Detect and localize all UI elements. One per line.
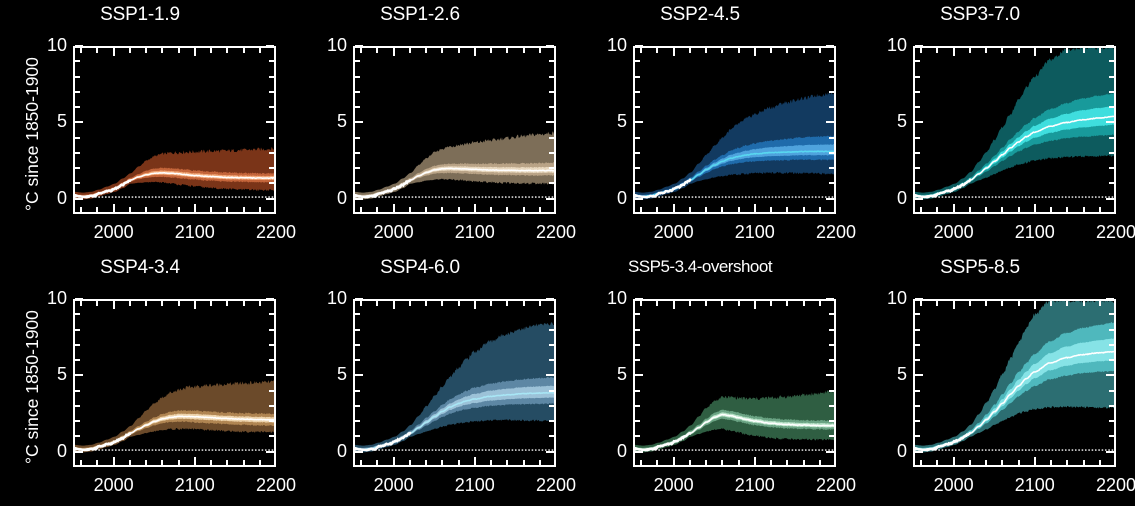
x-tick-mark-top (936, 48, 938, 53)
x-tick-mark (721, 460, 723, 465)
y-tick-label: 10 (41, 288, 67, 309)
y-tick-mark-right (1106, 198, 1114, 200)
projection-bands (635, 301, 834, 465)
x-tick-mark (360, 460, 362, 465)
x-tick-mark-top (178, 301, 180, 306)
panel-title: SSP2-4.5 (560, 4, 840, 26)
y-tick-mark-right (269, 344, 274, 346)
y-tick-mark (635, 121, 643, 123)
y-tick-mark (635, 198, 643, 200)
x-tick-mark-top (920, 48, 922, 53)
y-tick-mark (915, 45, 923, 47)
y-tick-mark-right (549, 359, 554, 361)
y-tick-mark-right (269, 390, 274, 392)
y-tick-label: 5 (601, 111, 627, 132)
x-tick-mark (1034, 204, 1036, 212)
x-tick-mark (936, 207, 938, 212)
y-tick-mark-right (549, 313, 554, 315)
x-tick-mark (1066, 207, 1068, 212)
y-tick-mark (355, 137, 360, 139)
x-tick-label: 2100 (160, 475, 230, 496)
y-tick-mark-right (1106, 298, 1114, 300)
x-tick-mark-top (985, 48, 987, 53)
x-tick-mark-top (113, 48, 115, 56)
x-tick-mark-top (1018, 48, 1020, 53)
x-tick-mark (210, 460, 212, 465)
y-tick-mark-right (1109, 167, 1114, 169)
y-tick-mark (355, 313, 360, 315)
x-tick-mark-top (490, 301, 492, 306)
x-tick-mark (1018, 207, 1020, 212)
y-tick-mark (75, 359, 80, 361)
y-tick-mark-right (549, 182, 554, 184)
x-tick-mark-top (1066, 301, 1068, 306)
y-tick-mark (355, 420, 360, 422)
y-tick-mark (915, 60, 920, 62)
y-tick-mark-right (826, 121, 834, 123)
y-tick-mark-right (269, 60, 274, 62)
x-tick-label: 2000 (79, 222, 149, 243)
x-tick-label: 2200 (1081, 475, 1135, 496)
panel-row-bottom: SSP4-3.4°C since 1850-190005102000210022… (0, 253, 1135, 506)
y-tick-mark-right (829, 359, 834, 361)
y-tick-mark (355, 152, 360, 154)
x-tick-mark (969, 460, 971, 465)
y-tick-mark-right (549, 435, 554, 437)
y-tick-mark (75, 152, 80, 154)
y-tick-mark (635, 167, 640, 169)
y-tick-mark-right (829, 60, 834, 62)
y-tick-mark (915, 121, 923, 123)
x-tick-mark (376, 207, 378, 212)
y-tick-mark (355, 182, 360, 184)
x-tick-mark-top (194, 48, 196, 56)
y-tick-label: 10 (601, 35, 627, 56)
y-tick-mark (915, 374, 923, 376)
y-tick-mark-right (826, 451, 834, 453)
x-tick-mark (539, 207, 541, 212)
x-tick-label: 2000 (639, 222, 709, 243)
x-tick-mark (506, 207, 508, 212)
x-tick-mark (819, 460, 821, 465)
y-tick-mark (75, 451, 83, 453)
y-tick-mark-right (269, 329, 274, 331)
x-tick-mark (656, 207, 658, 212)
x-tick-mark (474, 457, 476, 465)
panel-ssp1-2.6: SSP1-2.60510200021002200 (280, 0, 560, 253)
y-tick-mark (75, 60, 80, 62)
y-tick-mark-right (266, 374, 274, 376)
panel-title: SSP1-2.6 (280, 4, 560, 26)
x-tick-mark-top (441, 48, 443, 53)
y-tick-mark-right (546, 451, 554, 453)
x-tick-mark-top (506, 48, 508, 53)
x-tick-mark (259, 207, 261, 212)
y-tick-mark-right (546, 374, 554, 376)
x-tick-mark (819, 207, 821, 212)
y-tick-mark-right (266, 198, 274, 200)
x-tick-mark (409, 460, 411, 465)
y-tick-mark-right (269, 152, 274, 154)
y-tick-mark-right (829, 137, 834, 139)
y-tick-mark-right (549, 152, 554, 154)
x-tick-label: 2100 (1000, 222, 1070, 243)
y-tick-mark-right (549, 167, 554, 169)
x-tick-label: 2000 (639, 475, 709, 496)
x-tick-mark-top (770, 48, 772, 53)
x-tick-mark (96, 460, 98, 465)
projection-bands (915, 48, 1114, 212)
x-tick-mark (409, 207, 411, 212)
x-tick-mark-top (786, 301, 788, 306)
y-tick-mark-right (549, 344, 554, 346)
y-tick-mark-right (1106, 121, 1114, 123)
x-tick-mark-top (523, 48, 525, 53)
x-tick-mark (161, 207, 163, 212)
x-tick-mark-top (194, 301, 196, 309)
y-tick-mark (75, 91, 80, 93)
x-tick-mark (1050, 460, 1052, 465)
x-tick-mark (640, 460, 642, 465)
x-tick-mark (393, 204, 395, 212)
y-tick-mark (75, 329, 80, 331)
x-tick-mark-top (738, 48, 740, 53)
panel-ssp4-3.4: SSP4-3.4°C since 1850-190005102000210022… (0, 253, 280, 506)
plot-area (73, 299, 276, 467)
x-tick-mark-top (80, 48, 82, 53)
y-tick-mark-right (829, 76, 834, 78)
x-tick-mark-top (210, 301, 212, 306)
x-tick-mark (770, 460, 772, 465)
x-tick-mark-top (360, 48, 362, 53)
x-tick-mark (80, 207, 82, 212)
x-tick-mark (920, 460, 922, 465)
x-tick-mark (656, 460, 658, 465)
y-tick-mark (915, 91, 920, 93)
projection-bands (355, 301, 554, 465)
y-tick-mark-right (549, 60, 554, 62)
x-tick-mark (1018, 460, 1020, 465)
y-tick-mark (75, 137, 80, 139)
x-tick-mark-top (96, 301, 98, 306)
x-tick-mark (129, 207, 131, 212)
y-tick-mark (635, 313, 640, 315)
y-tick-mark (915, 182, 920, 184)
y-tick-mark-right (1109, 329, 1114, 331)
y-tick-mark (75, 167, 80, 169)
y-tick-mark (355, 167, 360, 169)
y-tick-mark-right (269, 405, 274, 407)
y-tick-mark-right (826, 298, 834, 300)
y-tick-mark-right (269, 137, 274, 139)
x-tick-mark (953, 457, 955, 465)
y-tick-label: 10 (321, 288, 347, 309)
x-tick-mark-top (738, 301, 740, 306)
x-tick-mark (738, 460, 740, 465)
y-tick-mark (355, 298, 363, 300)
x-tick-mark (803, 207, 805, 212)
plot-area (913, 299, 1116, 467)
y-tick-mark-right (549, 137, 554, 139)
x-tick-mark (113, 204, 115, 212)
y-tick-mark (635, 451, 643, 453)
x-tick-mark (243, 460, 245, 465)
y-tick-mark (75, 313, 80, 315)
x-tick-mark (1001, 460, 1003, 465)
x-tick-mark-top (640, 301, 642, 306)
y-tick-mark (915, 298, 923, 300)
x-tick-mark (936, 460, 938, 465)
y-tick-mark (355, 374, 363, 376)
y-tick-mark-right (1106, 374, 1114, 376)
x-tick-mark-top (393, 301, 395, 309)
x-tick-mark-top (226, 301, 228, 306)
y-tick-mark-right (829, 182, 834, 184)
x-tick-mark (243, 207, 245, 212)
x-tick-label: 2100 (720, 475, 790, 496)
x-tick-label: 2000 (79, 475, 149, 496)
x-tick-mark-top (178, 48, 180, 53)
x-tick-mark (441, 460, 443, 465)
plot-area (913, 46, 1116, 214)
y-tick-mark (915, 167, 920, 169)
x-tick-mark (506, 460, 508, 465)
x-tick-mark (259, 460, 261, 465)
x-tick-mark (1066, 460, 1068, 465)
y-tick-mark (915, 451, 923, 453)
x-tick-mark-top (113, 301, 115, 309)
y-tick-label: 5 (881, 364, 907, 385)
x-tick-label: 2000 (919, 222, 989, 243)
plot-area (633, 299, 836, 467)
x-tick-mark (113, 457, 115, 465)
x-tick-mark (689, 460, 691, 465)
x-tick-mark-top (376, 48, 378, 53)
x-tick-mark (178, 460, 180, 465)
y-tick-mark-right (1109, 152, 1114, 154)
y-tick-mark-right (546, 45, 554, 47)
y-tick-mark (75, 298, 83, 300)
x-tick-mark-top (161, 48, 163, 53)
projection-bands (355, 48, 554, 212)
x-tick-mark-top (1034, 48, 1036, 56)
x-tick-mark (705, 460, 707, 465)
y-tick-mark (75, 121, 83, 123)
x-tick-mark (523, 460, 525, 465)
x-tick-mark (226, 207, 228, 212)
y-tick-label: 5 (41, 364, 67, 385)
y-tick-mark-right (826, 374, 834, 376)
y-axis-label: °C since 1850-1900 (22, 310, 43, 464)
y-tick-mark-right (826, 198, 834, 200)
x-tick-mark-top (985, 301, 987, 306)
x-tick-mark-top (539, 301, 541, 306)
y-tick-mark-right (546, 298, 554, 300)
y-tick-mark-right (549, 106, 554, 108)
x-tick-mark (490, 460, 492, 465)
x-tick-mark (210, 207, 212, 212)
y-axis-label: °C since 1850-1900 (22, 57, 43, 211)
x-tick-mark-top (360, 301, 362, 306)
x-tick-mark (1050, 207, 1052, 212)
x-tick-label: 2100 (1000, 475, 1070, 496)
x-tick-mark-top (1099, 48, 1101, 53)
x-tick-mark-top (656, 48, 658, 53)
y-tick-mark (355, 405, 360, 407)
y-tick-mark (355, 76, 360, 78)
x-tick-mark (953, 204, 955, 212)
x-tick-mark-top (803, 48, 805, 53)
y-tick-mark (915, 435, 920, 437)
y-tick-mark (355, 106, 360, 108)
x-tick-label: 2000 (359, 475, 429, 496)
y-tick-mark (355, 329, 360, 331)
x-tick-label: 2100 (160, 222, 230, 243)
panel-title: SSP4-3.4 (0, 257, 280, 279)
y-tick-mark-right (1109, 390, 1114, 392)
y-tick-mark (75, 344, 80, 346)
y-tick-mark (75, 76, 80, 78)
x-tick-mark-top (1034, 301, 1036, 309)
x-tick-mark-top (409, 48, 411, 53)
x-tick-mark-top (754, 48, 756, 56)
x-tick-mark-top (458, 48, 460, 53)
y-tick-mark-right (266, 45, 274, 47)
plot-area (353, 299, 556, 467)
x-tick-mark-top (705, 48, 707, 53)
x-tick-mark (1099, 460, 1101, 465)
y-tick-mark-right (829, 152, 834, 154)
x-tick-mark-top (1001, 48, 1003, 53)
y-tick-mark-right (1109, 435, 1114, 437)
y-tick-mark (915, 344, 920, 346)
y-tick-mark-right (1109, 313, 1114, 315)
y-tick-mark (75, 106, 80, 108)
projection-bands (75, 48, 274, 212)
y-tick-label: 5 (41, 111, 67, 132)
x-tick-mark-top (803, 301, 805, 306)
x-tick-mark (458, 460, 460, 465)
x-tick-label: 2100 (440, 222, 510, 243)
y-tick-mark (75, 405, 80, 407)
y-tick-mark-right (829, 106, 834, 108)
y-tick-label: 0 (881, 188, 907, 209)
y-tick-mark (355, 121, 363, 123)
x-tick-mark (1083, 460, 1085, 465)
x-tick-mark (145, 460, 147, 465)
x-tick-mark (226, 460, 228, 465)
y-tick-mark (635, 374, 643, 376)
y-tick-mark-right (549, 390, 554, 392)
projection-bands (75, 301, 274, 465)
y-tick-mark-right (1109, 106, 1114, 108)
y-tick-label: 0 (601, 188, 627, 209)
x-tick-mark-top (210, 48, 212, 53)
panel-row-top: SSP1-1.9°C since 1850-190005102000210022… (0, 0, 1135, 253)
y-tick-mark-right (269, 167, 274, 169)
x-tick-label: 2100 (720, 222, 790, 243)
y-tick-mark (75, 390, 80, 392)
x-tick-mark-top (656, 301, 658, 306)
y-tick-mark (915, 152, 920, 154)
x-tick-mark-top (129, 301, 131, 306)
y-tick-mark-right (266, 451, 274, 453)
y-tick-mark (915, 106, 920, 108)
x-tick-mark-top (226, 48, 228, 53)
x-tick-mark-top (425, 48, 427, 53)
x-tick-mark (474, 204, 476, 212)
y-tick-mark (635, 344, 640, 346)
y-tick-mark (915, 405, 920, 407)
x-tick-mark-top (969, 301, 971, 306)
y-tick-mark-right (269, 359, 274, 361)
x-tick-mark (145, 207, 147, 212)
x-tick-mark-top (425, 301, 427, 306)
x-tick-mark-top (376, 301, 378, 306)
y-tick-mark-right (546, 121, 554, 123)
figure-panel-grid: SSP1-1.9°C since 1850-190005102000210022… (0, 0, 1135, 506)
y-tick-mark-right (1109, 359, 1114, 361)
y-tick-mark-right (269, 420, 274, 422)
y-tick-label: 0 (41, 441, 67, 462)
x-tick-mark-top (506, 301, 508, 306)
y-tick-mark-right (269, 313, 274, 315)
x-tick-mark (1001, 207, 1003, 212)
x-tick-mark-top (969, 48, 971, 53)
x-tick-mark-top (1083, 301, 1085, 306)
panel-ssp2-4.5: SSP2-4.50510200021002200 (560, 0, 840, 253)
x-tick-mark-top (936, 301, 938, 306)
y-tick-mark-right (1109, 76, 1114, 78)
y-tick-mark (355, 91, 360, 93)
y-tick-label: 10 (601, 288, 627, 309)
x-tick-mark-top (80, 301, 82, 306)
x-tick-mark (920, 207, 922, 212)
y-tick-mark-right (549, 76, 554, 78)
x-tick-mark (490, 207, 492, 212)
y-tick-label: 0 (41, 188, 67, 209)
x-tick-mark-top (770, 301, 772, 306)
x-tick-mark-top (721, 301, 723, 306)
y-tick-mark (635, 76, 640, 78)
x-tick-mark (360, 207, 362, 212)
y-tick-label: 10 (41, 35, 67, 56)
x-tick-mark-top (409, 301, 411, 306)
x-tick-mark (738, 207, 740, 212)
x-tick-mark-top (1050, 301, 1052, 306)
y-tick-mark (635, 45, 643, 47)
x-tick-mark-top (490, 48, 492, 53)
x-tick-mark-top (243, 48, 245, 53)
x-tick-label: 2200 (1081, 222, 1135, 243)
x-tick-mark (770, 207, 772, 212)
x-tick-mark (754, 204, 756, 212)
y-tick-mark (635, 359, 640, 361)
y-tick-mark-right (549, 91, 554, 93)
x-tick-mark (640, 207, 642, 212)
y-tick-mark (355, 344, 360, 346)
y-tick-mark (915, 313, 920, 315)
y-tick-mark-right (829, 405, 834, 407)
x-tick-mark (441, 207, 443, 212)
y-tick-mark-right (1106, 45, 1114, 47)
y-tick-label: 5 (601, 364, 627, 385)
y-tick-mark-right (1109, 344, 1114, 346)
y-tick-mark (355, 198, 363, 200)
y-tick-mark (635, 182, 640, 184)
x-tick-mark-top (640, 48, 642, 53)
x-tick-mark-top (393, 48, 395, 56)
